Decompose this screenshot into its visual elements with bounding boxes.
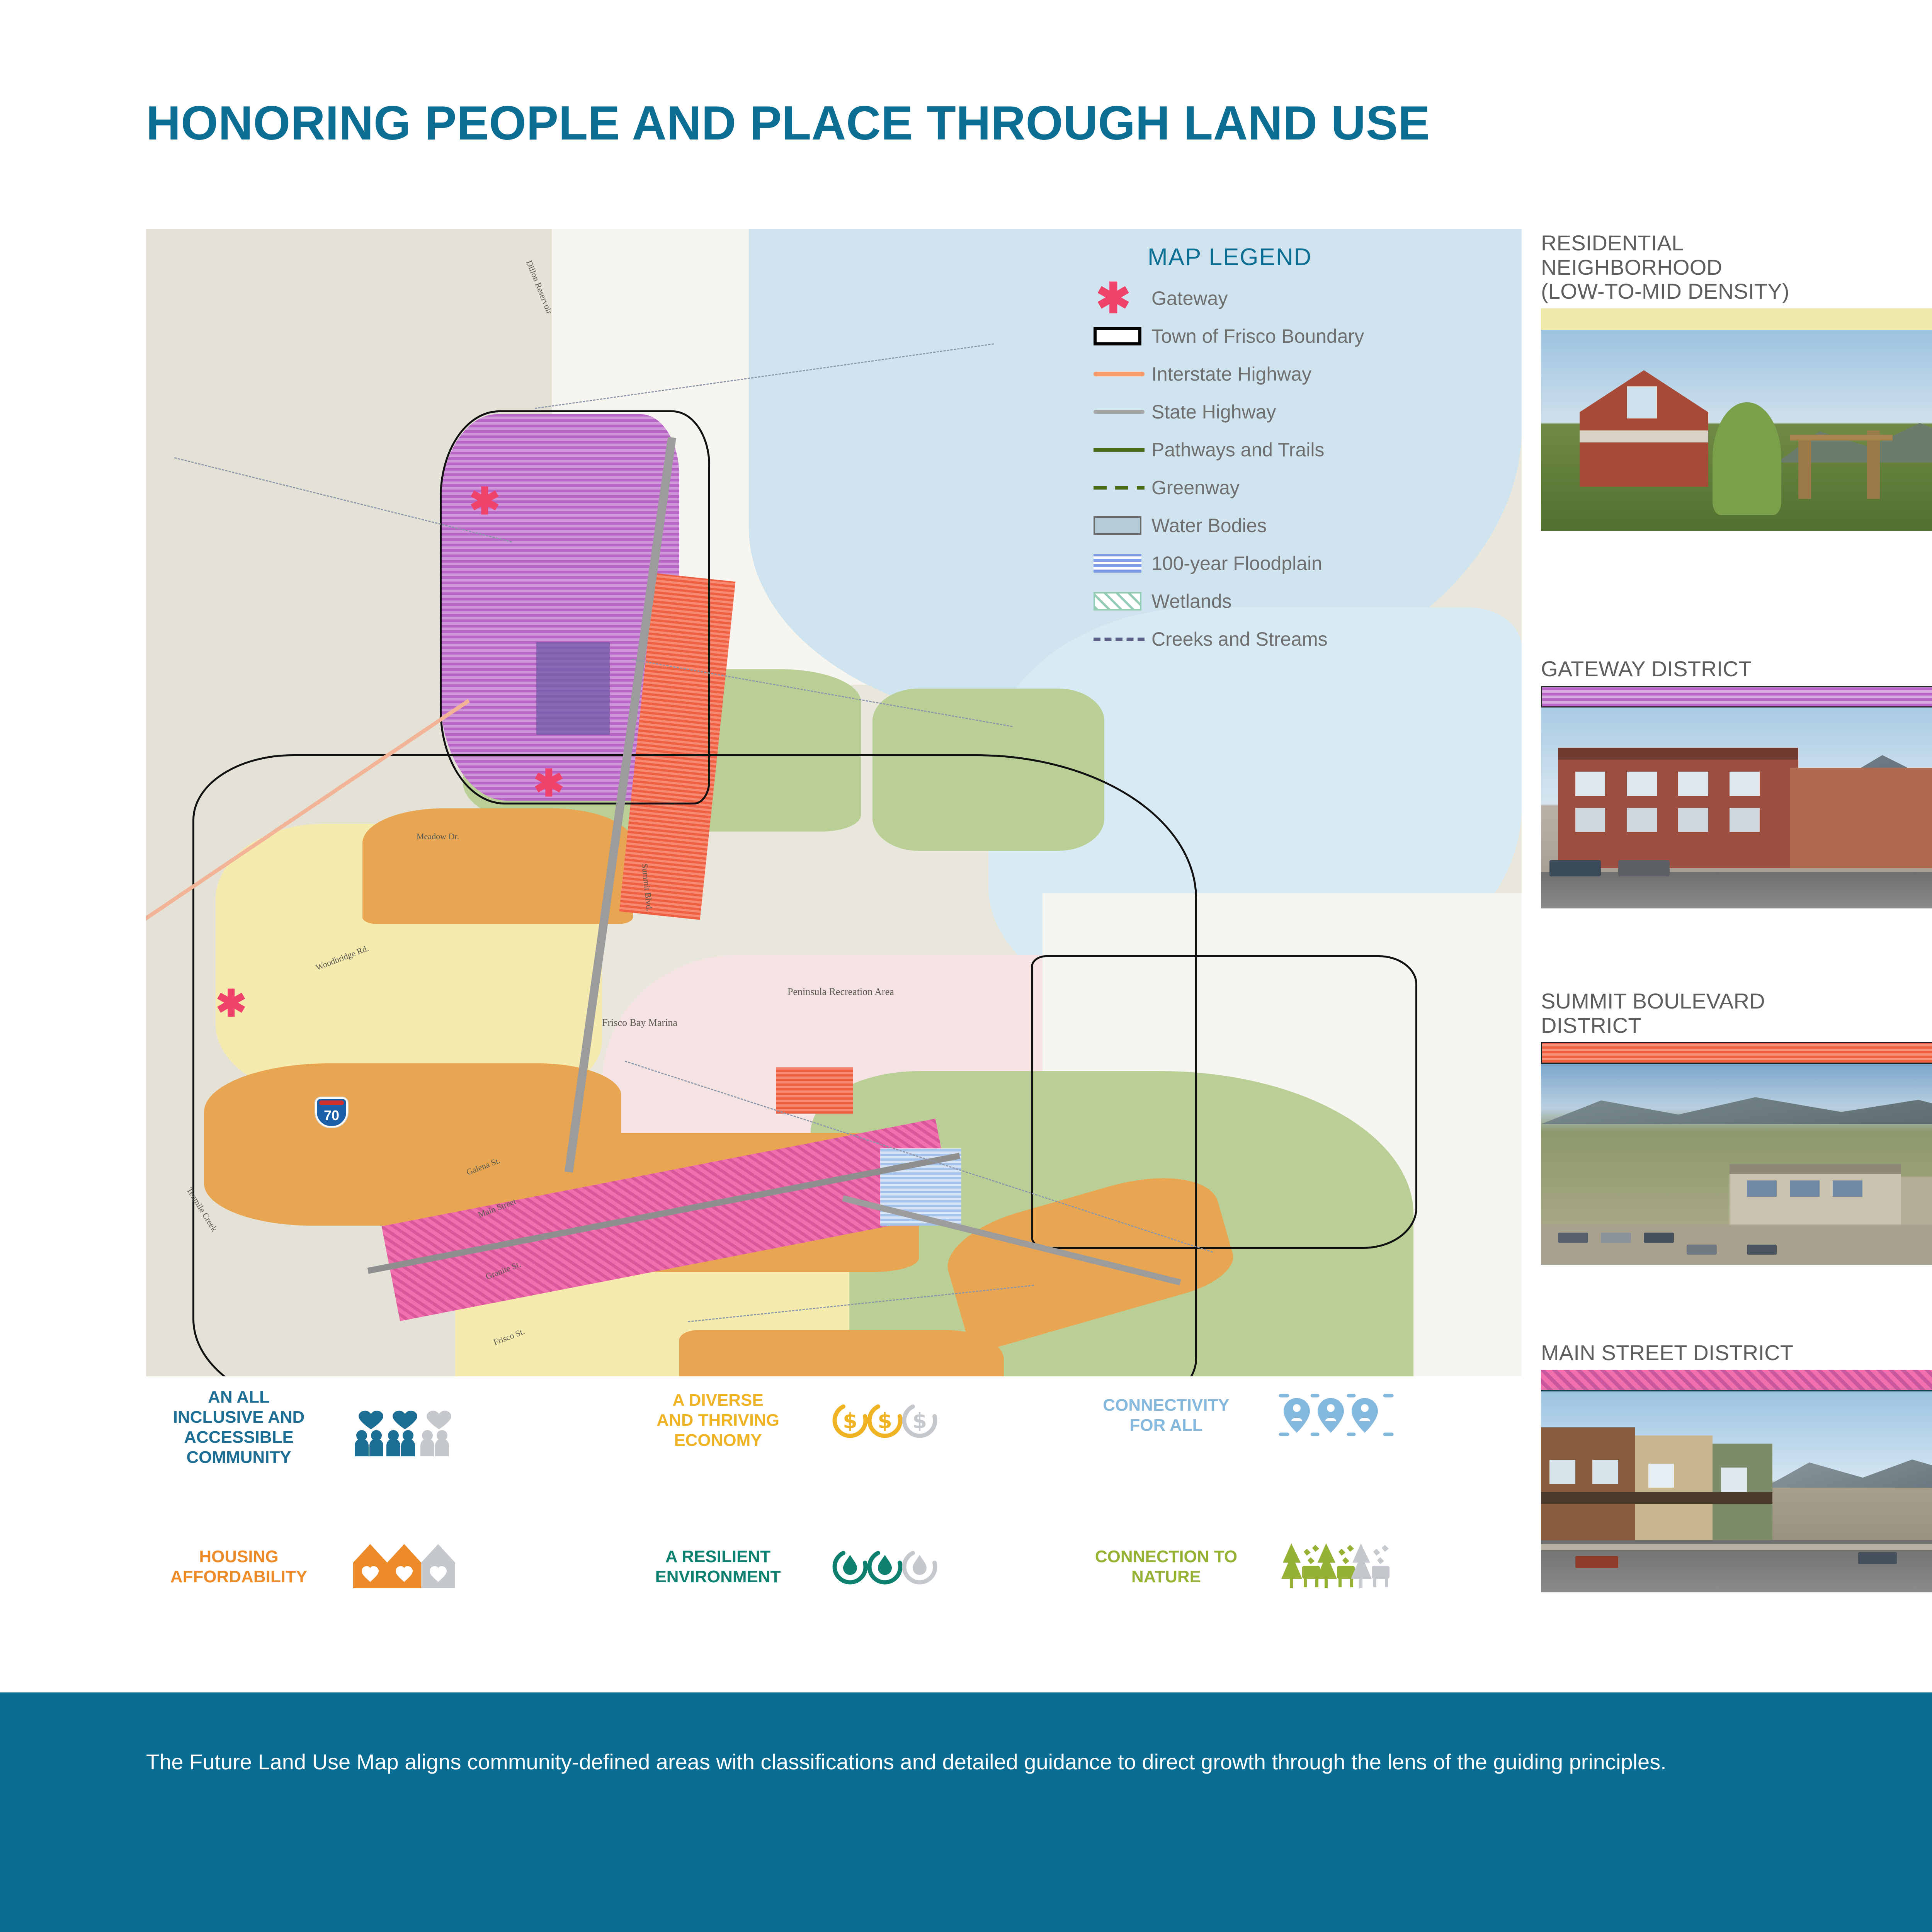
legend-item-state-highway: State Highway <box>1094 393 1495 431</box>
legend-item-greenway: Greenway <box>1094 469 1495 507</box>
wetlands-swatch-icon <box>1094 592 1141 611</box>
principle-icon-connection-to-nature <box>1259 1542 1413 1592</box>
principle-icon-resilient-environment <box>811 1542 965 1592</box>
legend-item-creeks: Creeks and Streams <box>1094 620 1495 658</box>
water-swatch-icon <box>1094 516 1141 535</box>
legend-item-water: Water Bodies <box>1094 507 1495 544</box>
principle-housing-affordability: HOUSING AFFORDABILITY <box>146 1542 486 1592</box>
footer-caption: The Future Land Use Map aligns community… <box>146 1746 1932 1778</box>
legend-label-interstate: Interstate Highway <box>1151 363 1311 385</box>
interstate-line-icon <box>1094 372 1145 376</box>
legend-label-wetlands: Wetlands <box>1151 590 1232 612</box>
principle-icon-housing-affordability <box>332 1542 486 1592</box>
floodplain-swatch-icon <box>1094 554 1141 573</box>
svg-text:$: $ <box>912 1409 927 1433</box>
principle-label-connection-to-nature: CONNECTION TO NATURE <box>1073 1547 1259 1587</box>
interstate-70-number: 70 <box>324 1107 339 1124</box>
map-gateway-marker-west[interactable]: ✱ <box>216 994 241 1019</box>
category-label-residential-low: RESIDENTIAL NEIGHBORHOOD (LOW-TO-MID DEN… <box>1541 231 1932 304</box>
map-gateway-marker-summit[interactable]: ✱ <box>533 774 559 799</box>
category-swatch-gateway <box>1541 686 1932 707</box>
category-photo-gateway <box>1541 707 1932 908</box>
principle-diverse-economy: A DIVERSE AND THRIVING ECONOMY $ $ $ <box>625 1390 965 1451</box>
category-swatch-residential-low <box>1541 308 1932 330</box>
principle-icon-inclusive-community <box>332 1398 486 1456</box>
principle-resilient-environment: A RESILIENT ENVIRONMENT <box>625 1542 965 1592</box>
category-photo-residential-low <box>1541 330 1932 531</box>
principle-connectivity: CONNECTIVITY FOR ALL <box>1073 1390 1413 1440</box>
interstate-70-shield-icon: 70 <box>315 1097 348 1128</box>
legend-item-wetlands: Wetlands <box>1094 582 1495 620</box>
principle-icon-diverse-economy: $ $ $ <box>811 1395 965 1446</box>
greenway-dash-icon <box>1094 486 1145 490</box>
legend-label-gateway: Gateway <box>1151 287 1228 310</box>
gateway-star-icon: ✱ <box>1096 287 1131 310</box>
principle-label-inclusive-community: AN ALL INCLUSIVE AND ACCESSIBLE COMMUNIT… <box>146 1387 332 1468</box>
legend-item-gateway: ✱ Gateway <box>1094 279 1495 317</box>
category-label-summit-boulevard: SUMMIT BOULEVARD DISTRICT <box>1541 989 1932 1037</box>
principle-connection-to-nature: CONNECTION TO NATURE <box>1073 1542 1413 1592</box>
legend-label-trails: Pathways and Trails <box>1151 439 1324 461</box>
map-label-peninsula: Peninsula Recreation Area <box>787 986 894 998</box>
legend-item-floodplain: 100-year Floodplain <box>1094 544 1495 582</box>
page-title: HONORING PEOPLE AND PLACE THROUGH LAND U… <box>146 96 1430 151</box>
principle-label-diverse-economy: A DIVERSE AND THRIVING ECONOMY <box>625 1390 811 1451</box>
map-gateway-marker-north[interactable]: ✱ <box>469 492 495 517</box>
category-swatch-summit-boulevard <box>1541 1042 1932 1064</box>
map-label-marina: Frisco Bay Marina <box>602 1017 677 1029</box>
category-photo-main-street <box>1541 1391 1932 1592</box>
footer-banner: The Future Land Use Map aligns community… <box>0 1692 1932 1932</box>
svg-text:$: $ <box>843 1409 857 1433</box>
creek-dash-icon <box>1094 638 1145 641</box>
map-town-boundary-peninsula <box>1031 955 1417 1249</box>
map-label-meadow: Meadow Dr. <box>417 832 459 842</box>
legend-label-state-highway: State Highway <box>1151 401 1276 423</box>
category-label-main-street: MAIN STREET DISTRICT <box>1541 1341 1932 1365</box>
principle-label-resilient-environment: A RESILIENT ENVIRONMENT <box>625 1547 811 1587</box>
category-gateway-district[interactable]: GATEWAY DISTRICT <box>1541 657 1932 908</box>
category-summit-boulevard[interactable]: SUMMIT BOULEVARD DISTRICT <box>1541 989 1932 1265</box>
principle-inclusive-community: AN ALL INCLUSIVE AND ACCESSIBLE COMMUNIT… <box>146 1387 486 1468</box>
legend-label-greenway: Greenway <box>1151 476 1240 499</box>
legend-item-trails: Pathways and Trails <box>1094 431 1495 469</box>
principle-label-connectivity: CONNECTIVITY FOR ALL <box>1073 1395 1259 1435</box>
map-legend: MAP LEGEND ✱ Gateway Town of Frisco Boun… <box>1094 243 1495 658</box>
principle-label-housing-affordability: HOUSING AFFORDABILITY <box>146 1547 332 1587</box>
map-legend-title: MAP LEGEND <box>1148 243 1495 271</box>
legend-item-interstate: Interstate Highway <box>1094 355 1495 393</box>
legend-label-boundary: Town of Frisco Boundary <box>1151 325 1364 347</box>
boundary-box-icon <box>1094 327 1141 345</box>
legend-label-floodplain: 100-year Floodplain <box>1151 552 1322 575</box>
category-swatch-main-street <box>1541 1370 1932 1391</box>
category-main-street[interactable]: MAIN STREET DISTRICT <box>1541 1341 1932 1592</box>
state-highway-line-icon <box>1094 410 1145 414</box>
trail-line-icon <box>1094 448 1145 452</box>
principle-icon-connectivity <box>1259 1390 1413 1440</box>
legend-label-water: Water Bodies <box>1151 514 1267 537</box>
legend-label-creeks: Creeks and Streams <box>1151 628 1328 650</box>
category-label-gateway: GATEWAY DISTRICT <box>1541 657 1932 681</box>
category-photo-summit-boulevard <box>1541 1064 1932 1265</box>
legend-item-boundary: Town of Frisco Boundary <box>1094 317 1495 355</box>
svg-text:$: $ <box>878 1409 892 1433</box>
category-residential-low[interactable]: RESIDENTIAL NEIGHBORHOOD (LOW-TO-MID DEN… <box>1541 231 1932 531</box>
